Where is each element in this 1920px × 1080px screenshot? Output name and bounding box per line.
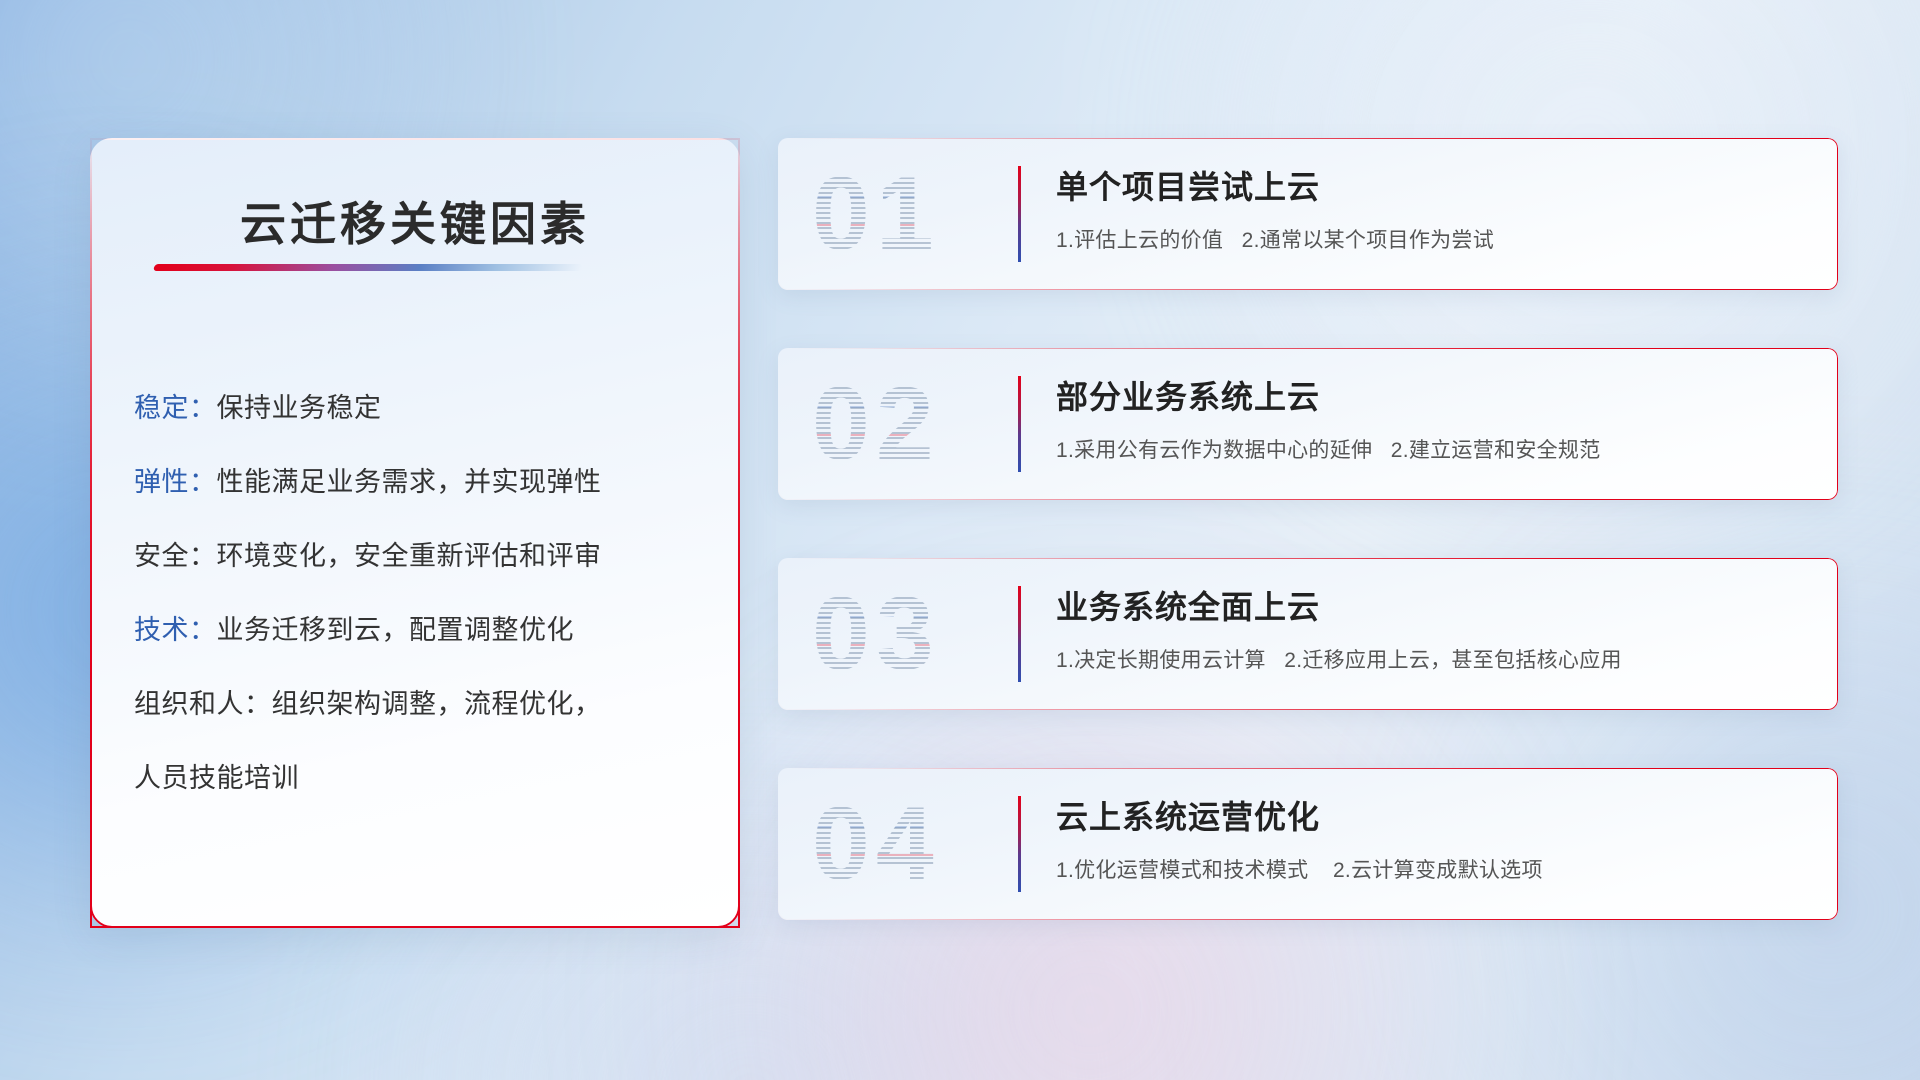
step-accent-bar xyxy=(1018,376,1021,472)
step-description: 1.决定长期使用云计算 2.迁移应用上云，甚至包括核心应用 xyxy=(1056,644,1622,674)
step-accent-bar xyxy=(1018,586,1021,682)
migration-step-card[interactable]: 0404云上系统运营优化1.优化运营模式和技术模式 2.云计算变成默认选项 xyxy=(778,768,1838,920)
key-factors-card: 云迁移关键因素 稳定：保持业务稳定弹性：性能满足业务需求，并实现弹性安全：环境变… xyxy=(90,138,740,928)
key-factor-value: 保持业务稳定 xyxy=(217,386,382,425)
step-number-watermark: 01 xyxy=(812,162,940,266)
key-factors-card-inner: 云迁移关键因素 稳定：保持业务稳定弹性：性能满足业务需求，并实现弹性安全：环境变… xyxy=(92,140,738,926)
key-factors-list: 稳定：保持业务稳定弹性：性能满足业务需求，并实现弹性安全：环境变化，安全重新评估… xyxy=(134,368,708,812)
step-title: 单个项目尝试上云 xyxy=(1056,162,1320,208)
page-title: 云迁移关键因素 xyxy=(92,188,738,254)
key-factor-row: 技术：业务迁移到云，配置调整优化 xyxy=(134,590,708,664)
step-number-watermark: 02 xyxy=(812,372,940,476)
key-factor-label: 安全： xyxy=(134,534,217,573)
step-number-watermark: 04 xyxy=(812,792,940,896)
step-accent-bar xyxy=(1018,796,1021,892)
key-factor-value: 业务迁移到云，配置调整优化 xyxy=(217,608,575,647)
step-title: 部分业务系统上云 xyxy=(1056,372,1320,418)
key-factor-value: 环境变化，安全重新评估和评审 xyxy=(217,534,602,573)
migration-step-card[interactable]: 0303业务系统全面上云1.决定长期使用云计算 2.迁移应用上云，甚至包括核心应… xyxy=(778,558,1838,710)
key-factor-value: 性能满足业务需求，并实现弹性 xyxy=(217,460,602,499)
key-factor-row: 人员技能培训 xyxy=(134,738,708,812)
key-factor-label: 组织和人： xyxy=(134,682,272,721)
migration-step-card[interactable]: 0101单个项目尝试上云1.评估上云的价值 2.通常以某个项目作为尝试 xyxy=(778,138,1838,290)
key-factor-label: 技术： xyxy=(134,608,217,647)
migration-steps-list: 0101单个项目尝试上云1.评估上云的价值 2.通常以某个项目作为尝试0202部… xyxy=(778,138,1838,978)
migration-step-card[interactable]: 0202部分业务系统上云1.采用公有云作为数据中心的延伸 2.建立运营和安全规范 xyxy=(778,348,1838,500)
key-factor-label: 弹性： xyxy=(134,460,217,499)
key-factor-value: 组织架构调整，流程优化， xyxy=(272,682,602,721)
key-factor-value: 人员技能培训 xyxy=(134,756,299,795)
step-description: 1.评估上云的价值 2.通常以某个项目作为尝试 xyxy=(1056,224,1494,254)
step-accent-bar xyxy=(1018,166,1021,262)
key-factor-row: 稳定：保持业务稳定 xyxy=(134,368,708,442)
step-description: 1.采用公有云作为数据中心的延伸 2.建立运营和安全规范 xyxy=(1056,434,1601,464)
key-factor-label: 稳定： xyxy=(134,386,217,425)
step-title: 云上系统运营优化 xyxy=(1056,792,1320,838)
step-number-watermark: 03 xyxy=(812,582,940,686)
key-factor-row: 安全：环境变化，安全重新评估和评审 xyxy=(134,516,708,590)
step-description: 1.优化运营模式和技术模式 2.云计算变成默认选项 xyxy=(1056,854,1543,884)
key-factor-row: 弹性：性能满足业务需求，并实现弹性 xyxy=(134,442,708,516)
title-underline-accent xyxy=(153,264,583,271)
key-factor-row: 组织和人：组织架构调整，流程优化， xyxy=(134,664,708,738)
step-title: 业务系统全面上云 xyxy=(1056,582,1320,628)
